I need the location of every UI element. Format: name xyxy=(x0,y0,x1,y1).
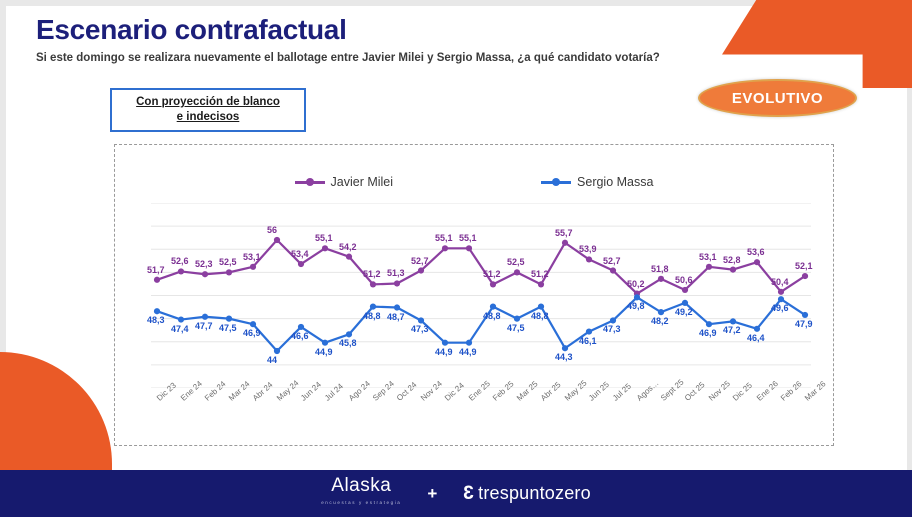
chart-x-axis: Dic 23Ene 24Feb 24Mar 24Abr 24May 24Jun … xyxy=(151,392,811,442)
legend-label-massa: Sergio Massa xyxy=(577,175,653,189)
projection-tag-box: Con proyección de blanco e indecisos xyxy=(110,88,306,132)
brand-alaska-tagline: encuestas y estrategia xyxy=(321,494,401,511)
data-label: 47,5 xyxy=(219,323,237,333)
brand-alaska-name: Alaska xyxy=(331,477,391,494)
page-title: Escenario contrafactual xyxy=(36,14,347,46)
data-label: 53,1 xyxy=(699,252,717,262)
projection-tag-line2: e indecisos xyxy=(177,110,240,125)
data-label: 47,2 xyxy=(723,325,741,335)
data-label: 52,3 xyxy=(195,259,213,269)
orange-shape-top-right xyxy=(722,0,912,88)
data-label: 54,2 xyxy=(339,242,357,252)
data-label: 51,2 xyxy=(363,269,381,279)
data-label: 46,9 xyxy=(243,328,261,338)
chart-legend: Javier Milei Sergio Massa xyxy=(115,175,833,189)
legend-item-massa: Sergio Massa xyxy=(541,175,653,189)
chart-svg xyxy=(151,203,811,388)
footer-bar: Alaska encuestas y estrategia + 3 trespu… xyxy=(0,470,912,517)
chart-plot-area: 51,752,652,352,553,15653,455,154,251,251… xyxy=(151,203,811,388)
data-label: 44,3 xyxy=(555,352,573,362)
data-label: 49,8 xyxy=(627,301,645,311)
brand-separator: + xyxy=(427,484,437,504)
data-label: 47,4 xyxy=(171,324,189,334)
data-label: 48,8 xyxy=(363,311,381,321)
legend-item-milei: Javier Milei xyxy=(295,175,394,189)
data-label: 44,9 xyxy=(315,347,333,357)
data-label: 51,8 xyxy=(651,264,669,274)
data-label: 47,9 xyxy=(795,319,813,329)
data-label: 44,9 xyxy=(459,347,477,357)
data-label: 46,9 xyxy=(699,328,717,338)
data-label: 46,6 xyxy=(291,331,309,341)
data-label: 52,7 xyxy=(411,256,429,266)
data-label: 55,1 xyxy=(459,233,477,243)
data-label: 53,9 xyxy=(579,244,597,254)
data-label: 48,2 xyxy=(651,316,669,326)
data-label: 52,5 xyxy=(219,257,237,267)
evolutivo-badge: EVOLUTIVO xyxy=(698,79,857,117)
data-label: 52,1 xyxy=(795,261,813,271)
data-label: 50,4 xyxy=(771,277,789,287)
data-label: 50,2 xyxy=(627,279,645,289)
data-label: 46,4 xyxy=(747,333,765,343)
data-label: 47,5 xyxy=(507,323,525,333)
page-subtitle: Si este domingo se realizara nuevamente … xyxy=(36,52,660,64)
brand-trespuntozero: 3 trespuntozero xyxy=(463,483,590,505)
data-label: 56 xyxy=(267,225,277,235)
data-label: 51,3 xyxy=(387,268,405,278)
data-label: 48,7 xyxy=(387,312,405,322)
data-label: 49,2 xyxy=(675,307,693,317)
data-label: 53,6 xyxy=(747,247,765,257)
data-label: 49,6 xyxy=(771,303,789,313)
legend-label-milei: Javier Milei xyxy=(331,175,394,189)
data-label: 46,1 xyxy=(579,336,597,346)
data-label: 48,8 xyxy=(531,311,549,321)
data-label: 52,7 xyxy=(603,256,621,266)
trespuntozero-logo-icon: 3 xyxy=(463,483,474,505)
data-label: 51,2 xyxy=(483,269,501,279)
projection-tag-line1: Con proyección de blanco xyxy=(136,95,280,110)
data-label: 55,1 xyxy=(315,233,333,243)
legend-marker-massa-icon xyxy=(541,177,571,187)
data-label: 51,2 xyxy=(531,269,549,279)
data-label: 52,5 xyxy=(507,257,525,267)
data-label: 48,8 xyxy=(483,311,501,321)
data-label: 52,8 xyxy=(723,255,741,265)
data-label: 53,1 xyxy=(243,252,261,262)
data-label: 47,7 xyxy=(195,321,213,331)
orange-shape-bottom-left xyxy=(0,352,112,470)
brand-alaska: Alaska encuestas y estrategia xyxy=(321,477,401,511)
data-label: 48,3 xyxy=(147,315,165,325)
data-label: 53,4 xyxy=(291,249,309,259)
chart-frame: Javier Milei Sergio Massa 51,752,652,352… xyxy=(114,144,834,446)
data-label: 45,8 xyxy=(339,338,357,348)
brand-trespuntozero-name: trespuntozero xyxy=(478,483,591,504)
legend-marker-milei-icon xyxy=(295,177,325,187)
data-label: 47,3 xyxy=(603,324,621,334)
data-label: 47,3 xyxy=(411,324,429,334)
data-label: 44,9 xyxy=(435,347,453,357)
data-label: 50,6 xyxy=(675,275,693,285)
data-label: 52,6 xyxy=(171,256,189,266)
slide: EVOLUTIVO Escenario contrafactual Si est… xyxy=(0,0,912,517)
data-label: 55,7 xyxy=(555,228,573,238)
data-label: 51,7 xyxy=(147,265,165,275)
data-label: 44 xyxy=(267,355,277,365)
data-label: 55,1 xyxy=(435,233,453,243)
